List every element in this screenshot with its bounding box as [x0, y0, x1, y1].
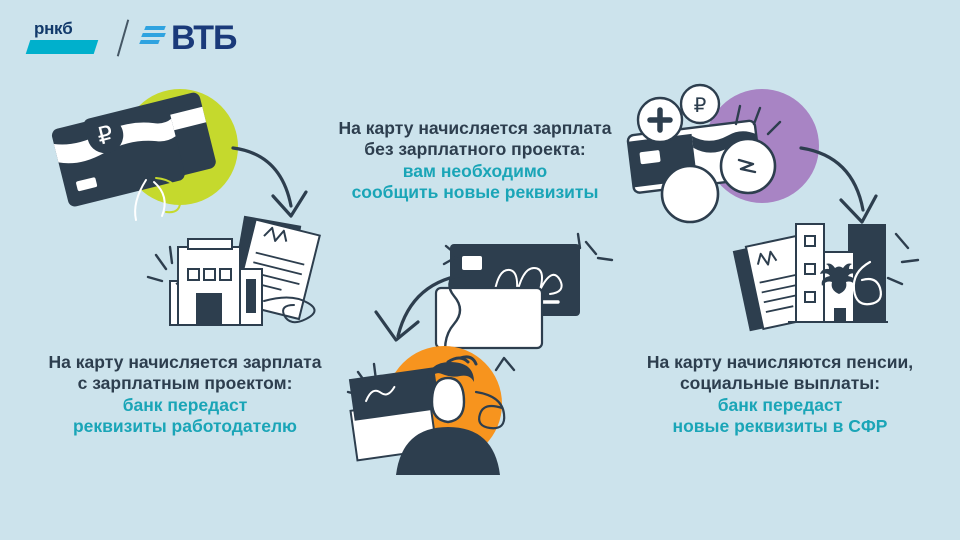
arrow-top-left-to-bottom-left [225, 140, 325, 230]
top-accent-line-2: сообщить новые реквизиты [325, 182, 625, 203]
illustration-government-building [730, 222, 940, 357]
brand-logo-bar: рнкб ВТБ [28, 18, 236, 58]
logo-separator-icon [117, 19, 129, 56]
vtb-logo: ВТБ [140, 21, 236, 55]
rnkb-bar-icon [26, 40, 99, 54]
ruble-symbol-icon: ₽ [694, 95, 707, 117]
top-dark-line-1: На карту начисляется зарплата [325, 118, 625, 139]
infographic-canvas: рнкб ВТБ ₽ [0, 0, 960, 540]
coin-blank [662, 166, 718, 222]
right-accent-line-2: новые реквизиты в СФР [612, 416, 948, 437]
right-accent-line-1: банк передаст [612, 395, 948, 416]
left-accent-line-1: банк передаст [18, 395, 352, 416]
left-accent-line-2: реквизиты работодателю [18, 416, 352, 437]
vtb-stripes-icon [140, 24, 166, 48]
illustration-person-holding-card [340, 340, 570, 475]
left-dark-line-1: На карту начисляется зарплата [18, 352, 352, 373]
right-dark-line-1: На карту начисляются пенсии, [612, 352, 948, 373]
text-block-salary-with-project: На карту начисляется зарплата с зарплатн… [18, 352, 352, 437]
text-block-salary-without-project: На карту начисляется зарплата без зарпла… [325, 118, 625, 203]
text-block-pensions-social-payments: На карту начисляются пенсии, социальные … [612, 352, 948, 437]
right-dark-line-2: социальные выплаты: [612, 373, 948, 394]
top-dark-line-2: без зарплатного проекта: [325, 139, 625, 160]
vtb-wordmark: ВТБ [171, 21, 236, 55]
rnkb-logo: рнкб [28, 18, 106, 58]
top-accent-line-1: вам необходимо [325, 161, 625, 182]
left-dark-line-2: с зарплатным проектом: [18, 373, 352, 394]
illustration-office-building [140, 225, 340, 355]
rnkb-wordmark: рнкб [34, 19, 72, 39]
